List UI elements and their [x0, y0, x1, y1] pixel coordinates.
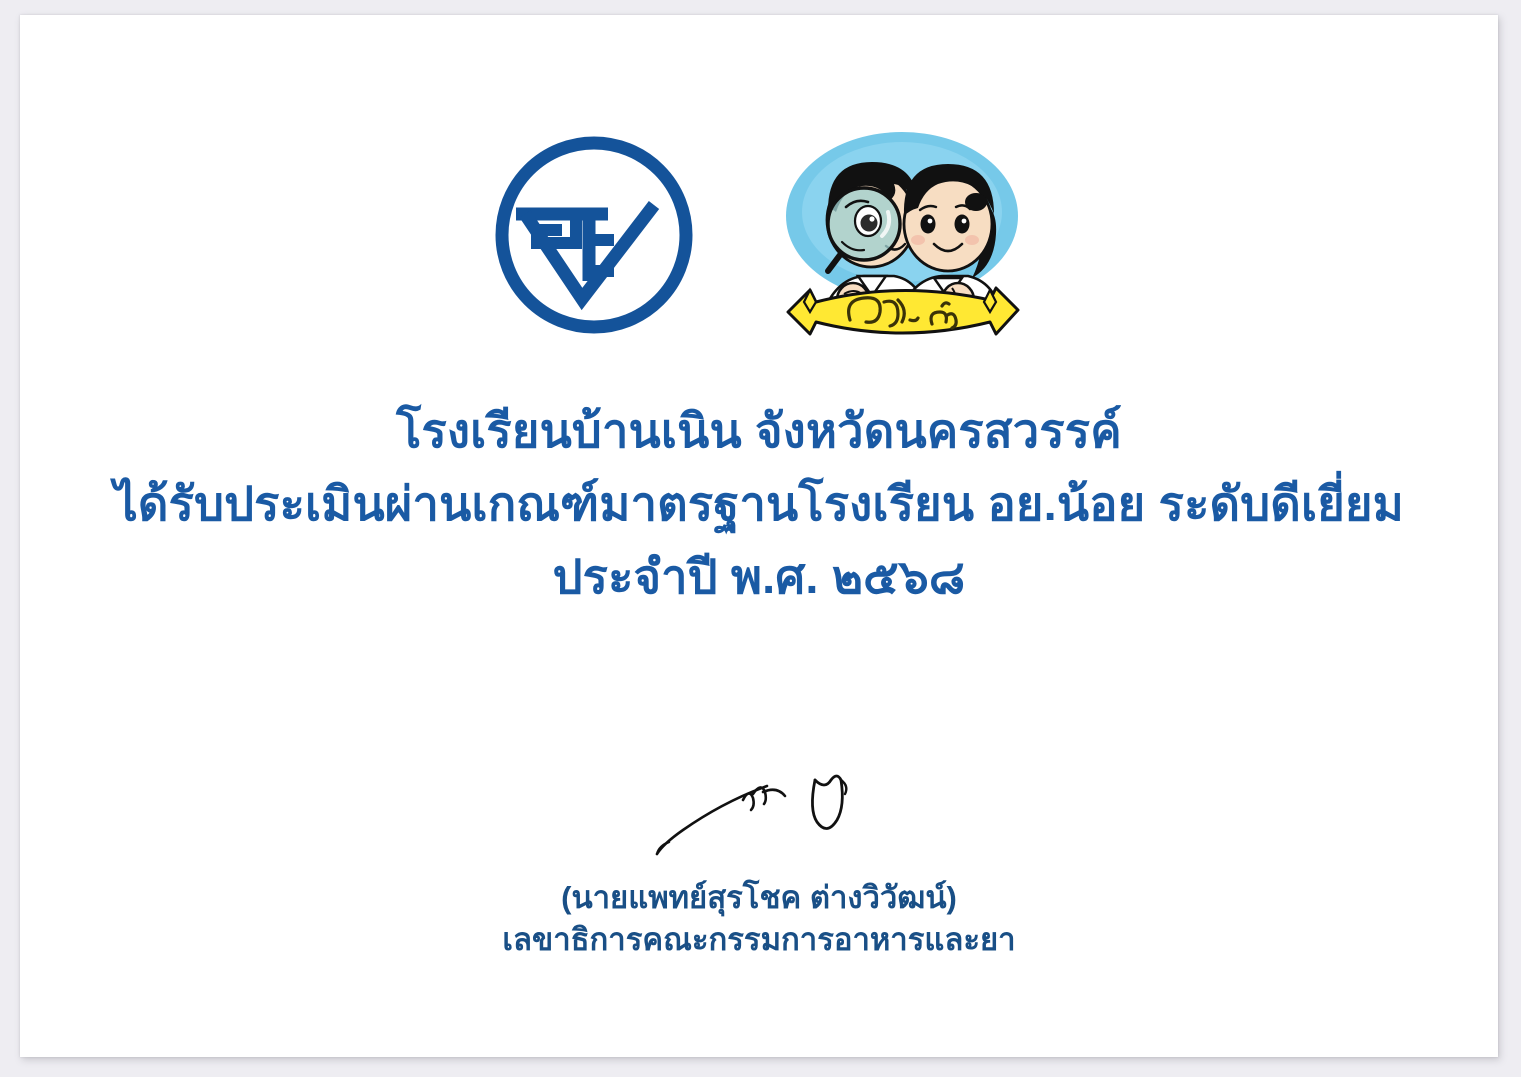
- signature-area: [20, 750, 1498, 870]
- oyo-noi-mascot-logo-icon: [776, 124, 1028, 346]
- logo-row: [20, 120, 1498, 350]
- handwritten-signature-icon: [639, 750, 939, 870]
- certificate-headline: โรงเรียนบ้านเนิน จังหวัดนครสวรรค์ ได้รับ…: [20, 400, 1498, 607]
- certificate-card: โรงเรียนบ้านเนิน จังหวัดนครสวรรค์ ได้รับ…: [20, 15, 1498, 1057]
- headline-line-award-statement: ได้รับประเมินผ่านเกณฑ์มาตรฐานโรงเรียน อย…: [20, 473, 1498, 534]
- thai-fda-logo-icon: [490, 131, 698, 339]
- headline-line-year: ประจำปี พ.ศ. ๒๕๖๘: [20, 546, 1498, 607]
- headline-line-school-name: โรงเรียนบ้านเนิน จังหวัดนครสวรรค์: [20, 400, 1498, 461]
- signer-block: (นายแพทย์สุรโชค ต่างวิวัฒน์) เลขาธิการคณ…: [20, 877, 1498, 960]
- signer-name: (นายแพทย์สุรโชค ต่างวิวัฒน์): [20, 877, 1498, 919]
- signer-title: เลขาธิการคณะกรรมการอาหารและยา: [20, 919, 1498, 961]
